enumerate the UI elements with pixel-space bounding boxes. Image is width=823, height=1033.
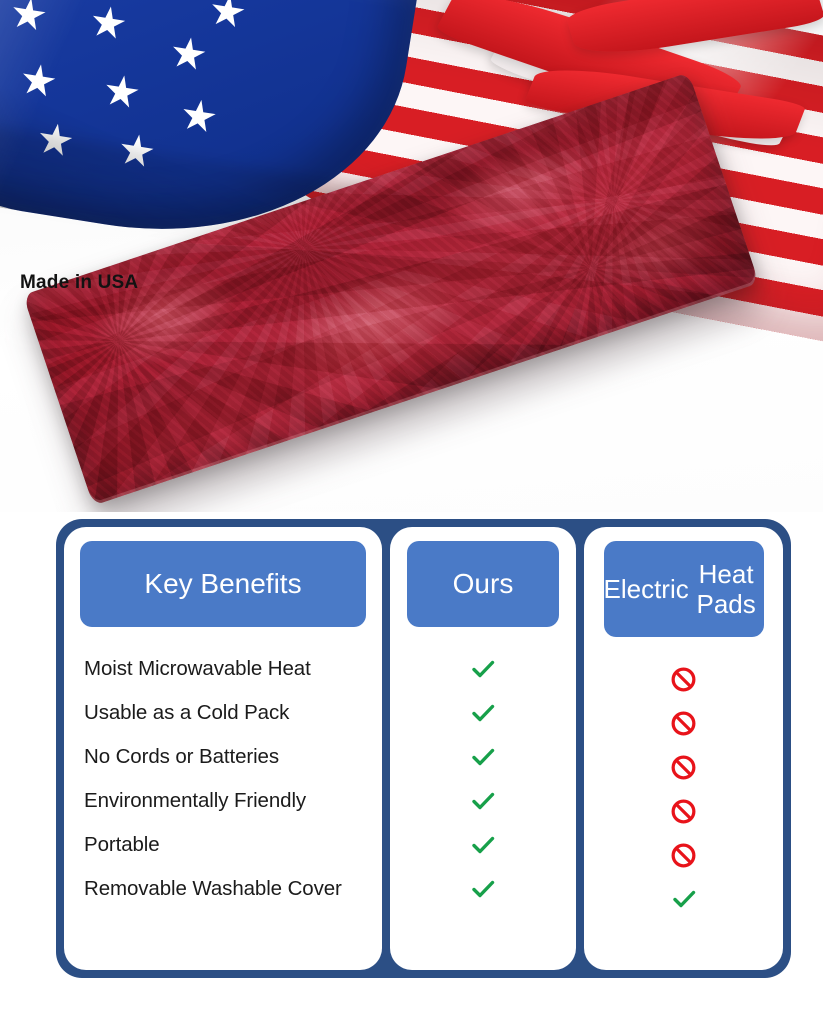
no-entry-icon xyxy=(670,710,697,737)
table-row xyxy=(390,867,576,911)
made-in-usa-label: Made in USA xyxy=(20,272,138,294)
table-row xyxy=(584,657,783,701)
column-ours: Ours xyxy=(390,527,576,970)
footer-whitespace xyxy=(0,978,823,1033)
table-row: Portable xyxy=(64,823,382,867)
column-header-line-1: Electric xyxy=(604,574,689,604)
table-row xyxy=(584,745,783,789)
table-row: Moist Microwavable Heat xyxy=(64,647,382,691)
table-row xyxy=(584,877,783,921)
no-entry-icon xyxy=(670,754,697,781)
check-icon xyxy=(468,654,498,684)
table-row xyxy=(584,701,783,745)
column-key-benefits: Key Benefits Moist Microwavable Heat Usa… xyxy=(64,527,382,970)
check-icon xyxy=(468,786,498,816)
no-entry-icon xyxy=(670,666,697,693)
table-row xyxy=(390,691,576,735)
table-row xyxy=(584,789,783,833)
hero-photo: Made in USA xyxy=(0,0,823,512)
product-infographic: Made in USA Key Benefits Moist Microwava… xyxy=(0,0,823,1033)
check-icon xyxy=(468,830,498,860)
no-entry-icon xyxy=(670,798,697,825)
comparison-table: Key Benefits Moist Microwavable Heat Usa… xyxy=(56,519,791,978)
check-icon xyxy=(468,698,498,728)
check-icon xyxy=(468,742,498,772)
table-row: Removable Washable Cover xyxy=(64,867,382,911)
table-row xyxy=(390,823,576,867)
column-header-key-benefits: Key Benefits xyxy=(80,541,366,627)
column-header-ours: Ours xyxy=(407,541,559,627)
table-row: No Cords or Batteries xyxy=(64,735,382,779)
no-entry-icon xyxy=(670,842,697,869)
column-header-line-2: Heat Pads xyxy=(689,559,764,619)
table-row: Usable as a Cold Pack xyxy=(64,691,382,735)
table-row: Environmentally Friendly xyxy=(64,779,382,823)
table-row xyxy=(584,833,783,877)
ours-value-list xyxy=(390,647,576,911)
column-electric-heat-pads: Electric Heat Pads xyxy=(584,527,783,970)
check-icon xyxy=(468,874,498,904)
column-header-electric-heat-pads: Electric Heat Pads xyxy=(604,541,764,637)
table-row xyxy=(390,779,576,823)
benefit-label-list: Moist Microwavable Heat Usable as a Cold… xyxy=(64,647,382,911)
table-row xyxy=(390,735,576,779)
check-icon xyxy=(669,884,699,914)
electric-value-list xyxy=(584,657,783,921)
table-row xyxy=(390,647,576,691)
